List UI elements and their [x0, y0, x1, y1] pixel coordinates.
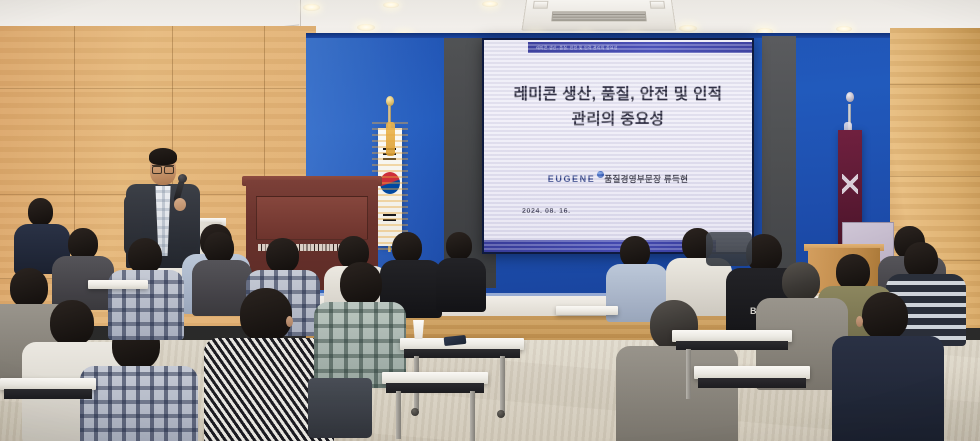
slide-title-line-2: 관리의 중요성 [484, 107, 752, 132]
downlight-icon [357, 24, 375, 31]
flag-emblem-icon [842, 174, 858, 194]
slide-surface: 레미콘 생산, 품질, 안전 및 인적 관리의 중요성 레미콘 생산, 품질, … [484, 40, 752, 252]
desk [556, 306, 618, 315]
flag-tassel [386, 122, 395, 156]
downlight-icon [836, 26, 852, 32]
slide-header-bar: 레미콘 생산, 품질, 안전 및 인적 관리의 중요성 [528, 42, 752, 53]
eugene-logo-text: EUGENE [548, 174, 596, 184]
downlight-icon [303, 4, 320, 11]
flag-finial-icon [846, 92, 854, 102]
projection-screen: 레미콘 생산, 품질, 안전 및 인적 관리의 중요성 레미콘 생산, 품질, … [482, 38, 754, 254]
downlight-icon [383, 2, 399, 8]
slide-title: 레미콘 생산, 품질, 안전 및 인적 관리의 중요성 [484, 82, 752, 132]
taeguk-symbol-icon [380, 172, 400, 194]
seminar-photo-scene: 레미콘 생산, 품질, 안전 및 인적 관리의 중요성 레미콘 생산, 품질, … [0, 0, 980, 441]
slide-presenter-row: EUGENE 품질경영부문장 류득현 [484, 173, 752, 185]
presenter-title-text: 품질경영부문장 류득현 [604, 173, 688, 185]
slide-date: 2024. 08. 16. [522, 208, 571, 215]
piano-front-panel [256, 196, 368, 240]
downlight-icon [679, 25, 697, 32]
flag-finial-icon [386, 96, 394, 106]
chair [706, 232, 752, 266]
desk [88, 280, 148, 289]
downlight-icon [482, 1, 498, 7]
glasses-icon [152, 165, 174, 171]
microphone-head-icon [178, 174, 187, 183]
chair [308, 378, 372, 438]
air-conditioner-icon [521, 0, 676, 31]
eugene-logo: EUGENE [548, 174, 596, 184]
slide-title-line-1: 레미콘 생산, 품질, 안전 및 인적 [484, 82, 752, 107]
eugene-logo-mark-icon [597, 171, 604, 178]
